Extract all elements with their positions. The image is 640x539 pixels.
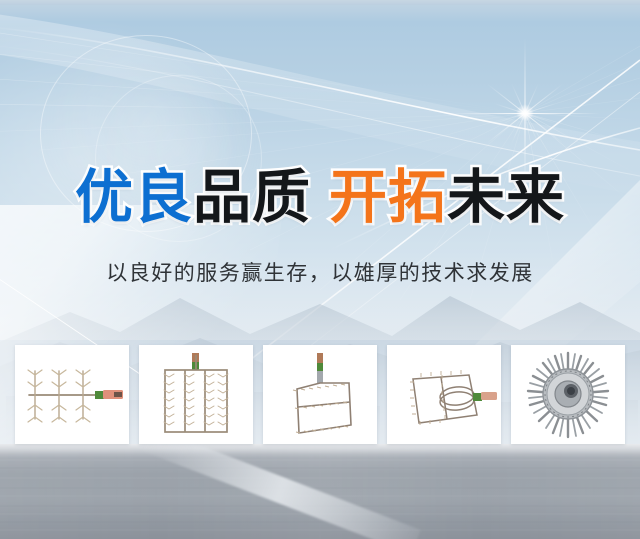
product-card[interactable] — [511, 345, 625, 444]
product-card-strip — [15, 345, 625, 444]
ground-surface — [0, 444, 640, 539]
product-card[interactable] — [15, 345, 129, 444]
rack-hooks-icon — [139, 345, 253, 444]
product-card[interactable] — [139, 345, 253, 444]
headline-segment-1: 优良 — [75, 163, 193, 231]
headline: 优良品质开拓未来 — [0, 165, 640, 229]
promo-banner: 优良品质开拓未来 以良好的服务赢生存，以雄厚的技术求发展 — [0, 0, 640, 539]
headline-segment-2: 品质 — [193, 163, 311, 231]
product-card[interactable] — [387, 345, 501, 444]
product-card[interactable] — [263, 345, 377, 444]
rack-loop-icon — [387, 345, 501, 444]
rack-branch-icon — [15, 345, 129, 444]
rack-radial-icon — [511, 345, 625, 444]
rack-frame-icon — [263, 345, 377, 444]
subtitle: 以良好的服务赢生存，以雄厚的技术求发展 — [0, 258, 640, 288]
headline-segment-3: 开拓 — [329, 163, 447, 231]
headline-segment-4: 未来 — [447, 163, 565, 231]
